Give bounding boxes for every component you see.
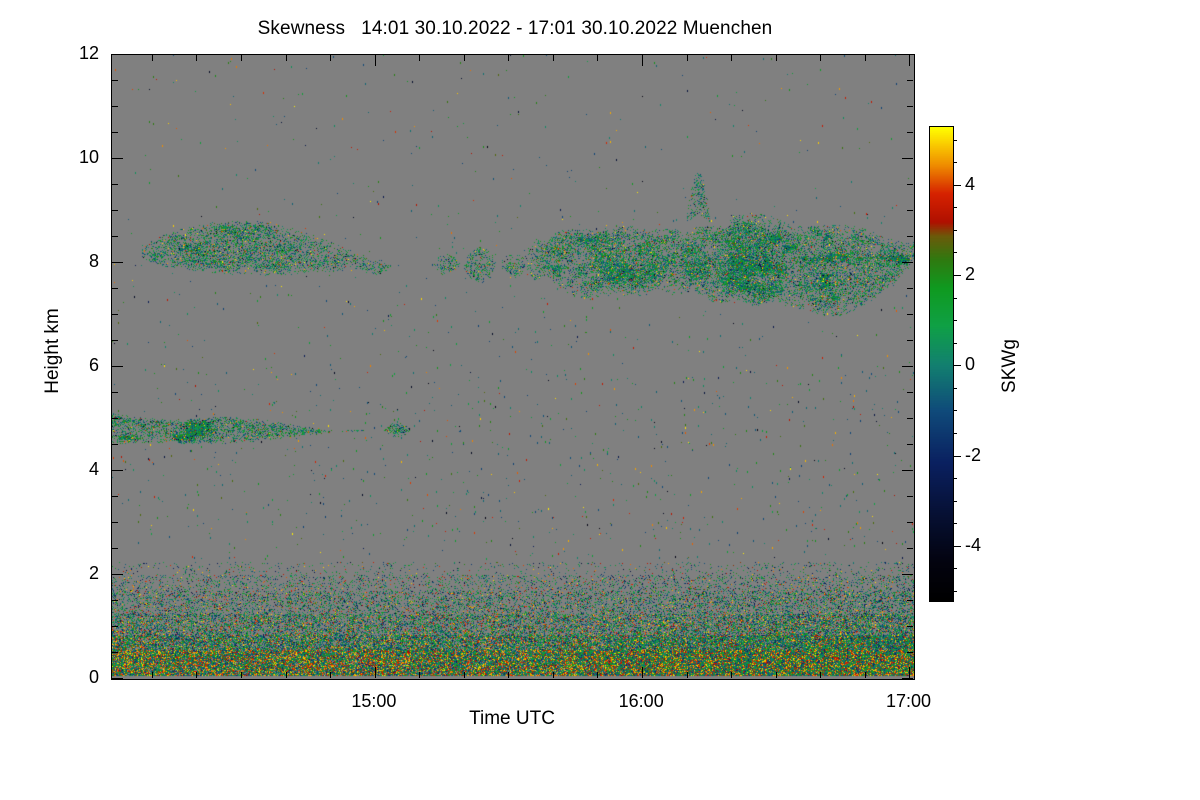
tickmark <box>776 672 777 678</box>
tickmark <box>902 574 913 575</box>
tickmark <box>286 672 287 678</box>
tickmark <box>112 496 118 497</box>
tickmark <box>907 522 913 523</box>
tickmark <box>907 288 913 289</box>
colorbar-tickmark <box>953 365 961 366</box>
colorbar <box>929 126 954 602</box>
colorbar-gradient <box>930 127 953 601</box>
tickmark <box>112 80 118 81</box>
tickmark <box>597 672 598 678</box>
tickmark <box>112 392 118 393</box>
tickmark <box>907 392 913 393</box>
colorbar-label: SKWg <box>999 286 1021 446</box>
tickmark <box>196 55 197 61</box>
tickmark <box>907 184 913 185</box>
tickmark <box>152 55 153 61</box>
tickmark <box>687 55 688 61</box>
colorbar-tickmark <box>953 388 957 389</box>
tickmark <box>907 548 913 549</box>
tickmark <box>902 158 913 159</box>
tickmark <box>907 418 913 419</box>
y-tick-label: 2 <box>39 563 99 584</box>
colorbar-tick-label: 4 <box>965 174 975 195</box>
tickmark <box>907 236 913 237</box>
tickmark <box>152 672 153 678</box>
tickmark <box>112 288 118 289</box>
tickmark <box>464 672 465 678</box>
tickmark <box>508 55 509 61</box>
tickmark <box>553 672 554 678</box>
colorbar-tickmark <box>953 140 957 141</box>
colorbar-tick-label: -4 <box>965 535 981 556</box>
tickmark <box>907 600 913 601</box>
tickmark <box>902 366 913 367</box>
tickmark <box>375 667 376 678</box>
colorbar-tickmark <box>953 207 957 208</box>
tickmark <box>112 54 123 55</box>
tickmark <box>776 55 777 61</box>
colorbar-tickmark <box>953 185 961 186</box>
tickmark <box>112 470 123 471</box>
colorbar-tick-label: 2 <box>965 264 975 285</box>
colorbar-tickmark <box>953 591 957 592</box>
tickmark <box>375 55 376 66</box>
tickmark <box>907 314 913 315</box>
tickmark <box>112 132 118 133</box>
y-tick-label: 10 <box>39 147 99 168</box>
tickmark <box>907 340 913 341</box>
colorbar-tickmark <box>953 478 957 479</box>
tickmark <box>112 184 118 185</box>
colorbar-tickmark <box>953 343 957 344</box>
tickmark <box>112 418 118 419</box>
colorbar-tickmark <box>953 456 961 457</box>
plot-area <box>111 54 915 680</box>
tickmark <box>112 210 118 211</box>
tickmark <box>112 600 118 601</box>
tickmark <box>553 55 554 61</box>
tickmark <box>286 55 287 61</box>
y-tick-label: 12 <box>39 43 99 64</box>
tickmark <box>687 672 688 678</box>
tickmark <box>241 55 242 61</box>
tickmark <box>902 470 913 471</box>
tickmark <box>112 106 118 107</box>
tickmark <box>865 55 866 61</box>
colorbar-tickmark <box>953 162 957 163</box>
tickmark <box>907 444 913 445</box>
colorbar-tick-label: -2 <box>965 445 981 466</box>
x-axis-label: Time UTC <box>111 708 913 730</box>
tickmark <box>112 340 118 341</box>
tickmark <box>112 548 118 549</box>
tickmark <box>419 55 420 61</box>
colorbar-tickmark <box>953 410 957 411</box>
tickmark <box>112 522 118 523</box>
y-tick-label: 0 <box>39 667 99 688</box>
tickmark <box>820 55 821 61</box>
tickmark <box>112 236 118 237</box>
tickmark <box>419 672 420 678</box>
colorbar-tickmark <box>953 320 957 321</box>
colorbar-tickmark <box>953 501 957 502</box>
colorbar-tickmark <box>953 433 957 434</box>
tickmark <box>196 672 197 678</box>
tickmark <box>820 672 821 678</box>
tickmark <box>909 55 910 66</box>
tickmark <box>902 54 913 55</box>
tickmark <box>112 626 118 627</box>
colorbar-tickmark <box>953 275 961 276</box>
tickmark <box>112 314 118 315</box>
colorbar-tickmark <box>953 523 957 524</box>
tickmark <box>642 667 643 678</box>
tickmark <box>597 55 598 61</box>
tickmark <box>902 262 913 263</box>
colorbar-tickmark <box>953 568 957 569</box>
tickmark <box>731 672 732 678</box>
colorbar-tick-label: 0 <box>965 354 975 375</box>
tickmark <box>112 574 123 575</box>
colorbar-tickmark <box>953 298 957 299</box>
tickmark <box>907 132 913 133</box>
tickmark <box>464 55 465 61</box>
tickmark <box>330 55 331 61</box>
tickmark <box>907 106 913 107</box>
tickmark <box>902 678 913 679</box>
tickmark <box>907 496 913 497</box>
tickmark <box>112 444 118 445</box>
y-axis-label: Height km <box>42 251 64 451</box>
chart-title: Skewness 14:01 30.10.2022 - 17:01 30.10.… <box>0 18 1030 40</box>
tickmark <box>907 652 913 653</box>
colorbar-tickmark <box>953 252 957 253</box>
tickmark <box>112 366 123 367</box>
tickmark <box>330 672 331 678</box>
tickmark <box>907 626 913 627</box>
tickmark <box>731 55 732 61</box>
tickmark <box>865 672 866 678</box>
tickmark <box>112 678 123 679</box>
tickmark <box>907 210 913 211</box>
tickmark <box>112 652 118 653</box>
heatmap-canvas <box>112 55 914 679</box>
tickmark <box>909 667 910 678</box>
skewness-time-height-figure: Skewness 14:01 30.10.2022 - 17:01 30.10.… <box>0 0 1200 800</box>
colorbar-tickmark <box>953 230 957 231</box>
tickmark <box>112 158 123 159</box>
tickmark <box>508 672 509 678</box>
tickmark <box>112 262 123 263</box>
tickmark <box>907 80 913 81</box>
y-tick-label: 4 <box>39 459 99 480</box>
tickmark <box>642 55 643 66</box>
colorbar-tickmark <box>953 546 961 547</box>
tickmark <box>241 672 242 678</box>
